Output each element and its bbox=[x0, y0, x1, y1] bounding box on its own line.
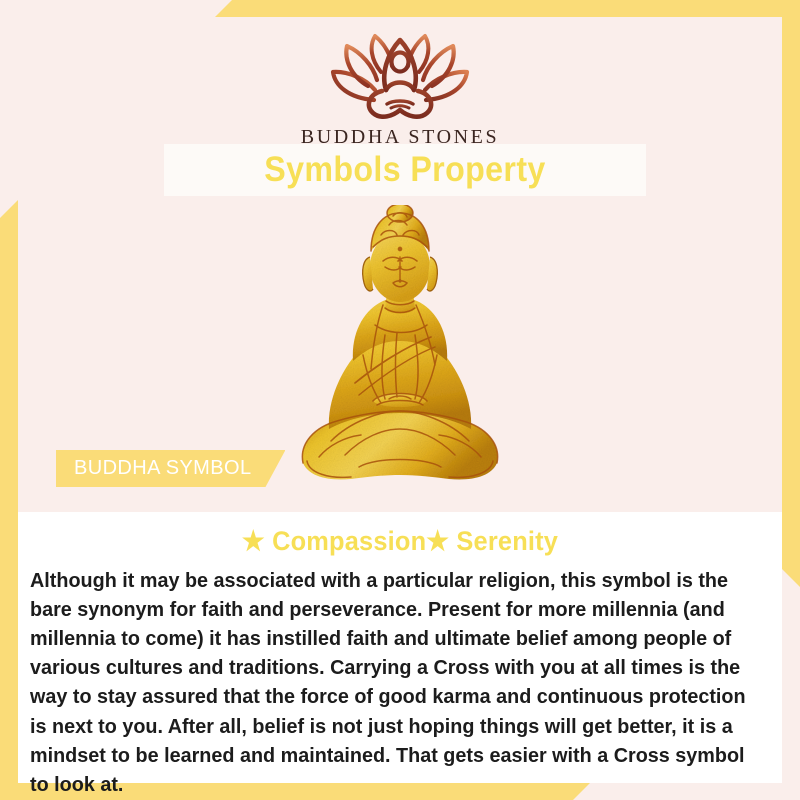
decorative-right-bar bbox=[782, 17, 800, 587]
description-paragraph: Although it may be associated with a par… bbox=[30, 566, 746, 799]
section-tag-buddha-symbol: BUDDHA SYMBOL bbox=[56, 450, 285, 487]
decorative-top-bar bbox=[215, 0, 800, 17]
content-stage: BUDDHA STONES Symbols Property bbox=[18, 17, 782, 783]
attributes-headline: ★ Compassion★ Serenity bbox=[41, 512, 759, 557]
page-title: Symbols Property bbox=[264, 150, 545, 190]
poster-root: BUDDHA STONES Symbols Property bbox=[0, 0, 800, 800]
lotus-meditation-icon bbox=[18, 28, 782, 124]
brand-header: BUDDHA STONES bbox=[18, 17, 782, 149]
decorative-left-bar bbox=[0, 200, 18, 783]
description-panel: ★ Compassion★ Serenity Although it may b… bbox=[18, 512, 782, 783]
section-tag-label: BUDDHA SYMBOL bbox=[74, 457, 251, 480]
title-banner: Symbols Property bbox=[164, 144, 646, 196]
